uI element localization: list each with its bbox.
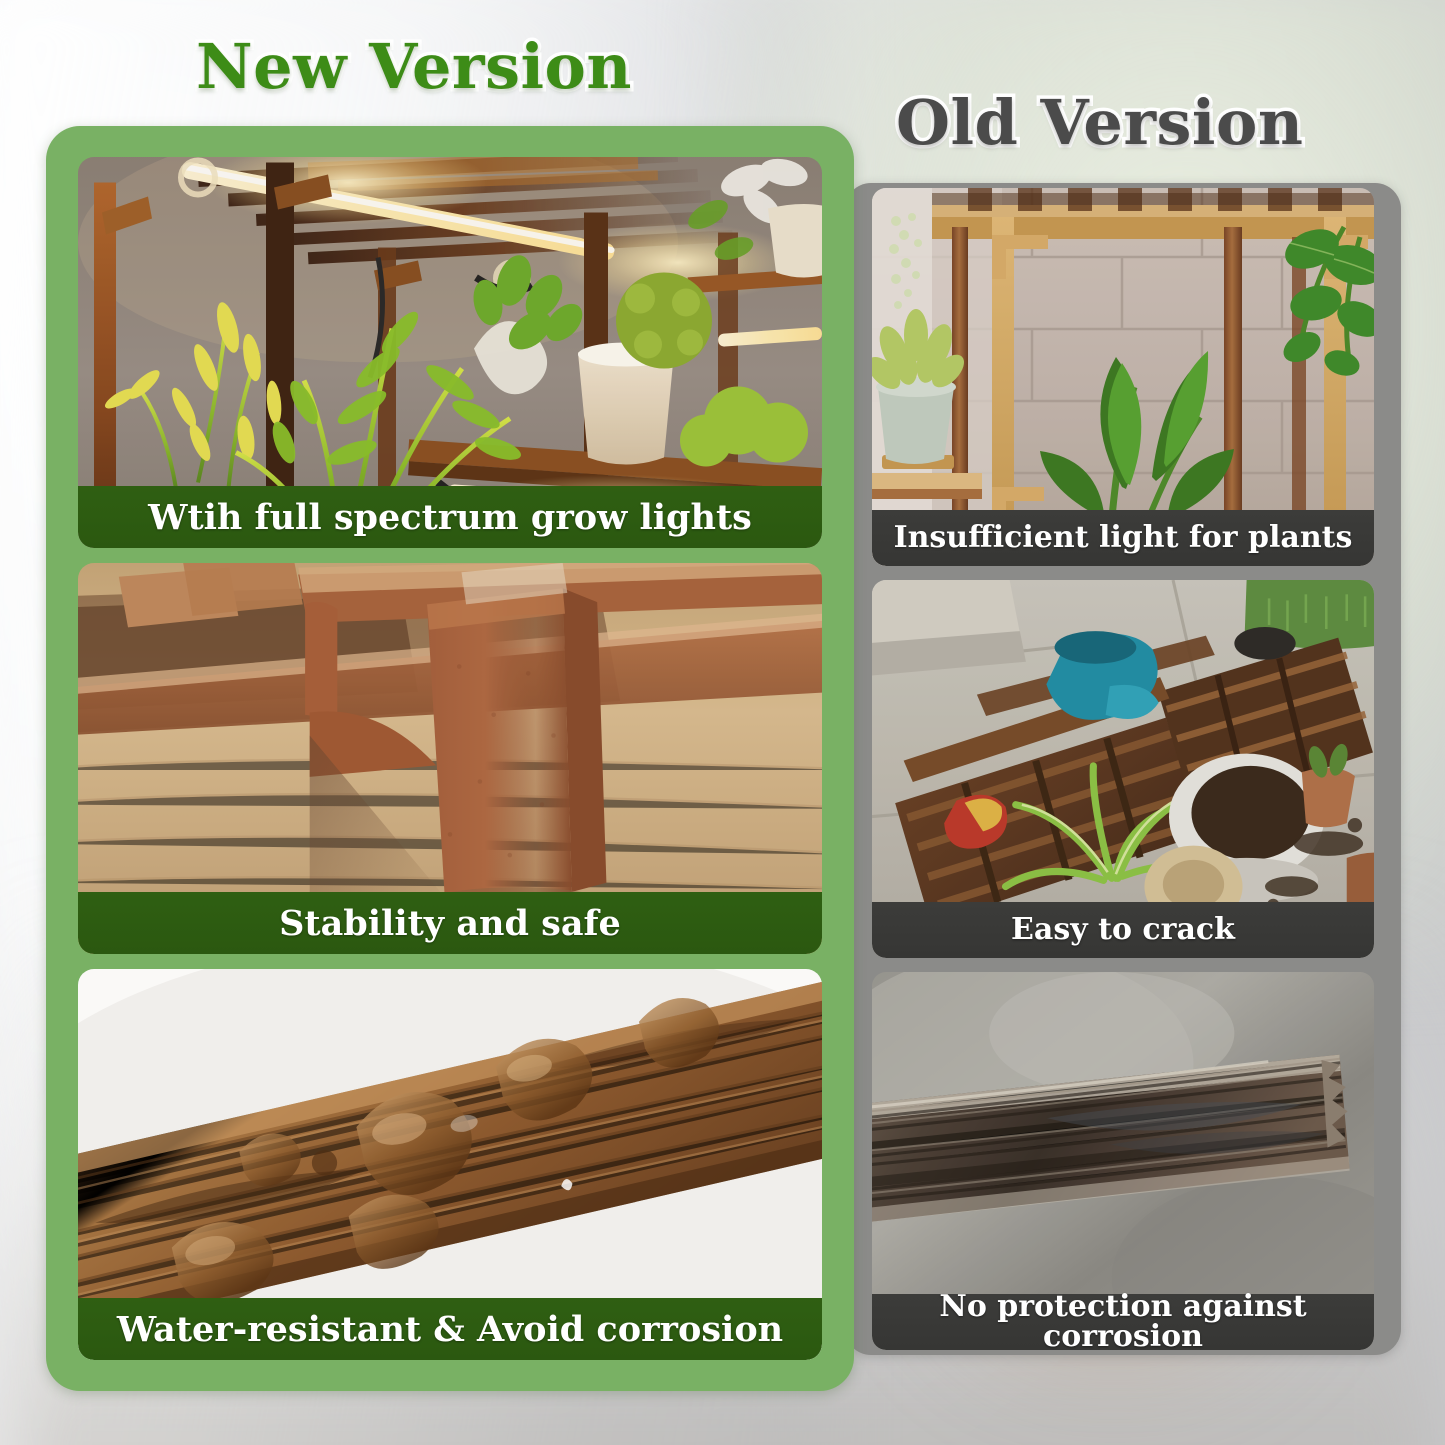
old-version-heading: Old Version <box>896 86 1303 159</box>
old-version-caption-no-protection: No protection against corrosion <box>872 1294 1374 1350</box>
new-version-caption-grow-lights: Wtih full spectrum grow lights <box>78 486 822 548</box>
new-version-cell-stability: Stability and safe <box>78 563 822 954</box>
old-version-caption-easy-to-crack: Easy to crack <box>872 902 1374 958</box>
new-version-cell-list: Wtih full spectrum grow lights <box>78 157 822 1360</box>
new-version-heading: New Version <box>196 30 632 103</box>
old-version-cell-insufficient-light: Insufficient light for plants <box>872 188 1374 566</box>
new-version-cell-water-resistant: Water-resistant & Avoid corrosion <box>78 969 822 1360</box>
new-version-caption-water-resistant: Water-resistant & Avoid corrosion <box>78 1298 822 1360</box>
old-version-cell-list: Insufficient light for plants <box>872 188 1374 1350</box>
new-version-caption-stability: Stability and safe <box>78 892 822 954</box>
old-version-cell-easy-to-crack: Easy to crack <box>872 580 1374 958</box>
old-version-caption-insufficient-light: Insufficient light for plants <box>872 510 1374 566</box>
old-version-cell-no-protection: No protection against corrosion <box>872 972 1374 1350</box>
new-version-cell-grow-lights: Wtih full spectrum grow lights <box>78 157 822 548</box>
